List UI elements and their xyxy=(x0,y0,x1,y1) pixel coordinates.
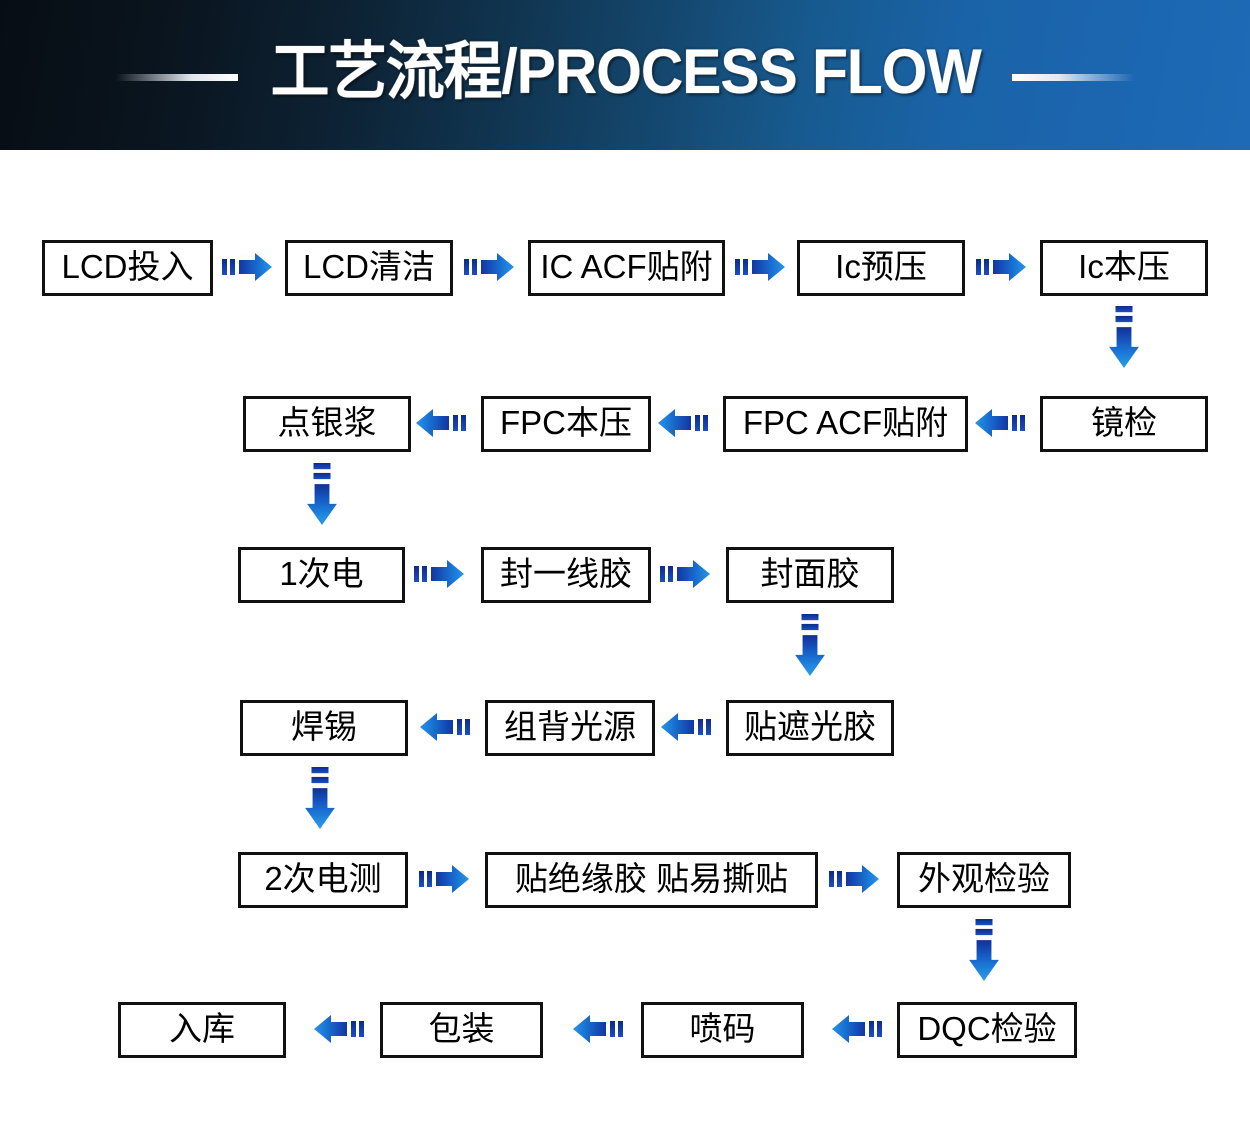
page-title: 工艺流程/PROCESS FLOW xyxy=(269,41,983,110)
arrow-left-icon xyxy=(420,711,472,745)
process-node[interactable]: 包装 xyxy=(380,1002,543,1058)
process-node[interactable]: 2次电测 xyxy=(238,852,408,908)
arrow-down-icon xyxy=(305,463,339,531)
arrow-down-icon xyxy=(967,919,1001,987)
arrow-right-icon xyxy=(829,863,881,897)
arrow-left-icon xyxy=(573,1013,625,1047)
process-node[interactable]: IC ACF贴附 xyxy=(528,240,725,296)
arrow-left-icon xyxy=(832,1013,884,1047)
process-node[interactable]: FPC ACF贴附 xyxy=(723,396,968,452)
process-node[interactable]: LCD投入 xyxy=(42,240,213,296)
arrow-left-icon xyxy=(975,407,1027,441)
process-node[interactable]: DQC检验 xyxy=(897,1002,1077,1058)
process-node[interactable]: 点银浆 xyxy=(243,396,411,452)
arrow-right-icon xyxy=(976,251,1028,285)
process-node[interactable]: Ic预压 xyxy=(797,240,965,296)
decorative-dash-right-icon xyxy=(1012,74,1134,81)
process-node[interactable]: 入库 xyxy=(118,1002,286,1058)
arrow-right-icon xyxy=(660,558,712,592)
process-flow-diagram: LCD投入 LCD清洁 IC ACF贴附 Ic预压 Ic本压 镜检 FPC AC… xyxy=(0,150,1250,1127)
arrow-left-icon xyxy=(661,711,713,745)
arrow-down-icon xyxy=(793,614,827,682)
arrow-down-icon xyxy=(1107,306,1141,374)
process-node[interactable]: Ic本压 xyxy=(1040,240,1208,296)
arrow-right-icon xyxy=(464,251,516,285)
arrow-right-icon xyxy=(222,251,274,285)
process-node[interactable]: 封面胶 xyxy=(726,547,894,603)
process-node[interactable]: 贴绝缘胶 贴易撕贴 xyxy=(485,852,818,908)
process-node[interactable]: 贴遮光胶 xyxy=(726,700,894,756)
banner-content: 工艺流程/PROCESS FLOW xyxy=(0,0,1250,150)
process-node[interactable]: 组背光源 xyxy=(485,700,655,756)
process-node[interactable]: 1次电 xyxy=(238,547,405,603)
arrow-left-icon xyxy=(416,407,468,441)
arrow-right-icon xyxy=(735,251,787,285)
process-node[interactable]: 焊锡 xyxy=(240,700,408,756)
process-node[interactable]: 封一线胶 xyxy=(481,547,651,603)
process-node[interactable]: FPC本压 xyxy=(481,396,651,452)
process-node[interactable]: 外观检验 xyxy=(897,852,1071,908)
arrow-left-icon xyxy=(658,407,710,441)
page-header-banner: 工艺流程/PROCESS FLOW xyxy=(0,0,1250,150)
arrow-right-icon xyxy=(414,558,466,592)
process-node[interactable]: 喷码 xyxy=(641,1002,804,1058)
arrow-right-icon xyxy=(419,863,471,897)
arrow-left-icon xyxy=(314,1013,366,1047)
process-node[interactable]: LCD清洁 xyxy=(285,240,453,296)
arrow-down-icon xyxy=(303,767,337,835)
process-node[interactable]: 镜检 xyxy=(1040,396,1208,452)
decorative-dash-left-icon xyxy=(116,74,238,81)
